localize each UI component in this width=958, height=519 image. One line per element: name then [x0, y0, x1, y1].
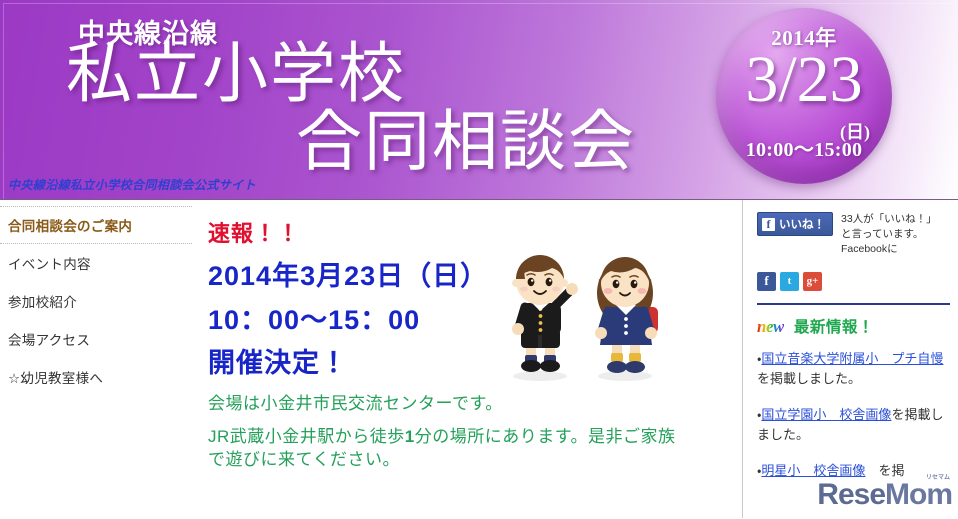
facebook-icon: f [762, 218, 775, 231]
badge-date: 3/23 [716, 42, 892, 118]
social-share-icons: f t g+ [757, 272, 950, 291]
facebook-like-widget: f いいね！ 33人が「いいね！」と言っています。Facebookに [757, 212, 950, 258]
access-sentence: JR武蔵小金井駅から徒歩1分の場所にあります。是非ご家族で遊びに来てください。 [208, 426, 678, 472]
badge-time: 10:00〜15:00 [716, 133, 892, 162]
news-link[interactable]: 国立音楽大学附属小 プチ自慢 [761, 351, 943, 366]
watermark-text-a: Rese [817, 478, 885, 511]
facebook-share-icon[interactable]: f [757, 272, 776, 291]
news-section-header: new 最新情報！ [757, 315, 950, 337]
sidebar-item-guide[interactable]: 合同相談会のご案内 [0, 206, 192, 244]
news-list-item: ・国立学園小 校舎画像を掲載しました。 [757, 405, 950, 445]
right-sidebar: f いいね！ 33人が「いいね！」と言っています。Facebookに f t g… [742, 200, 958, 518]
news-tail: を掲 [865, 463, 904, 478]
venue-sentence: 会場は小金井市民交流センターです。 [208, 393, 678, 416]
facebook-like-count-text: 33人が「いいね！」と言っています。Facebookに [841, 212, 947, 258]
site-header: 中央線沿線 私立小学校 合同相談会 中央線沿線私立小学校合同相談会公式サイト 2… [0, 0, 958, 200]
news-list-item: ・明星小 校舎画像 を掲 [757, 461, 950, 481]
event-date-badge: 2014年 3/23 (日) 10:00〜15:00 [716, 8, 892, 184]
access-sentence-before: JR武蔵小金井駅から徒歩 [208, 427, 405, 446]
flash-headline: 速報！！ [208, 216, 742, 248]
facebook-like-label: いいね！ [779, 216, 825, 232]
new-badge-icon: new [757, 317, 784, 337]
page-content: 合同相談会のご案内 イベント内容 参加校紹介 会場アクセス ☆幼児教室様へ 速報… [0, 200, 958, 518]
sidebar-item-venue-access[interactable]: 会場アクセス [0, 320, 192, 358]
sidebar-item-preschool[interactable]: ☆幼児教室様へ [0, 358, 192, 396]
news-link[interactable]: 国立学園小 校舎画像 [761, 407, 891, 422]
header-title-line-1: 私立小学校 [66, 42, 406, 108]
googleplus-share-icon[interactable]: g+ [803, 272, 822, 291]
walk-minutes: 1 [405, 427, 415, 446]
twitter-share-icon[interactable]: t [780, 272, 799, 291]
news-link[interactable]: 明星小 校舎画像 [761, 463, 865, 478]
header-title-line-2: 合同相談会 [296, 110, 636, 176]
watermark-text-b: Mom [885, 478, 952, 511]
facebook-like-button[interactable]: f いいね！ [757, 212, 833, 236]
schoolchildren-illustration [492, 245, 682, 385]
main-column: 速報！！ 2014年3月23日（日） 10：00〜15：00 開催決定！ 会場は… [192, 200, 742, 518]
sidebar-divider [757, 303, 950, 305]
news-section-title: 最新情報！ [794, 315, 874, 337]
sidebar-item-event-content[interactable]: イベント内容 [0, 244, 192, 282]
news-list-item: ・国立音楽大学附属小 プチ自慢 を掲載しました。 [757, 349, 950, 389]
sidebar-item-participating-schools[interactable]: 参加校紹介 [0, 282, 192, 320]
resemom-watermark: ReseMomリセマム [817, 478, 952, 512]
header-tagline: 中央線沿線私立小学校合同相談会公式サイト [8, 176, 256, 193]
left-sidebar-nav: 合同相談会のご案内 イベント内容 参加校紹介 会場アクセス ☆幼児教室様へ [0, 200, 192, 518]
